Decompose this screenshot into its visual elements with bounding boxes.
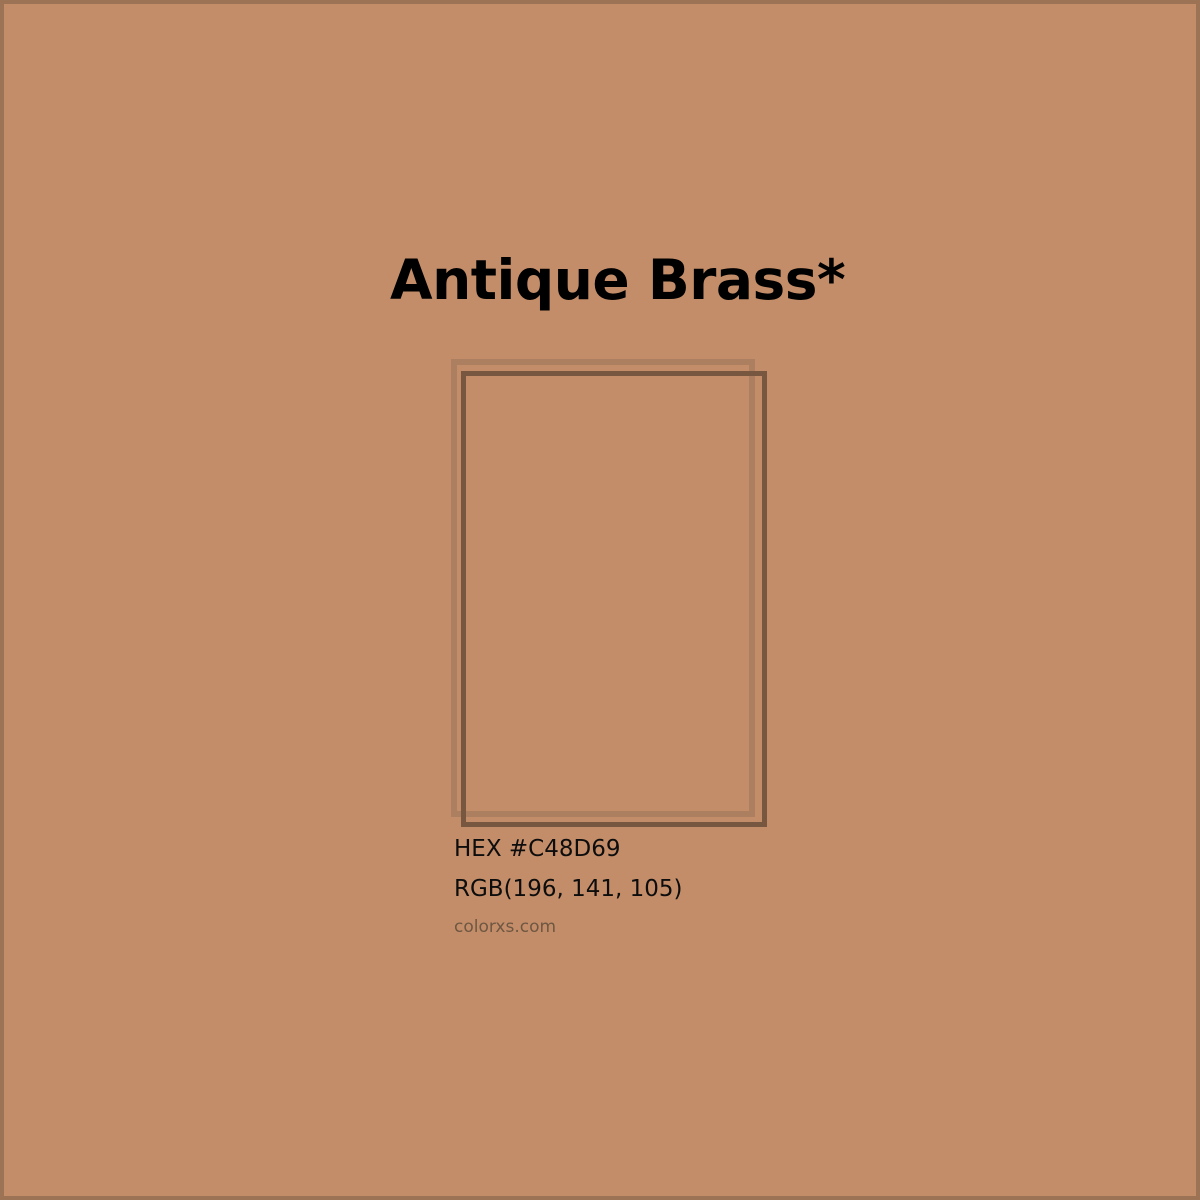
site-credit: colorxs.com xyxy=(454,917,954,937)
swatch-inner-frame xyxy=(461,371,767,827)
color-values-block: HEX #C48D69 RGB(196, 141, 105) colorxs.c… xyxy=(454,836,954,938)
color-swatch-preview xyxy=(4,4,1200,1204)
page-title: Antique Brass* xyxy=(390,250,845,311)
rgb-value: RGB(196, 141, 105) xyxy=(454,876,954,904)
swatch-outer-frame xyxy=(451,359,755,817)
hex-value: HEX #C48D69 xyxy=(454,836,954,864)
color-swatch-card: Antique Brass* HEX #C48D69 RGB(196, 141,… xyxy=(0,0,1200,1200)
